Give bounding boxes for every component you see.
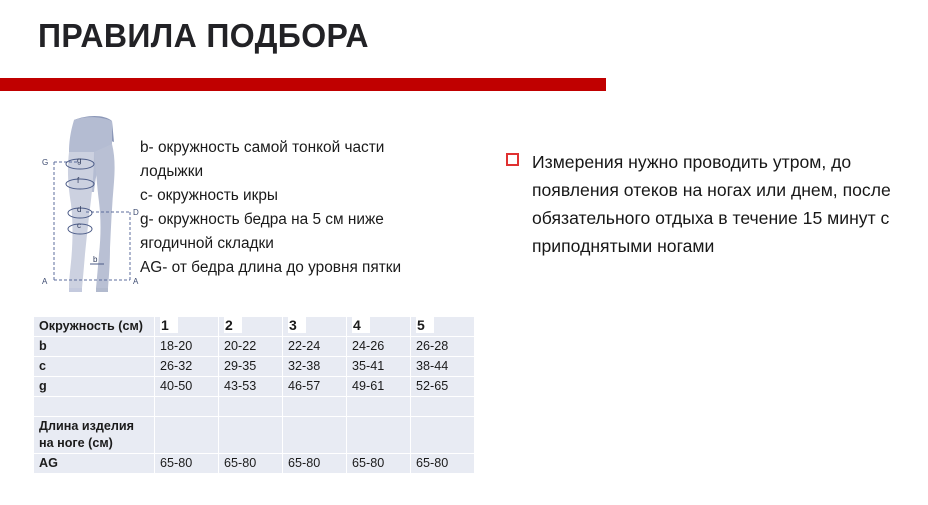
- label-A-right: A: [133, 277, 139, 286]
- cell-b-5: 26-28: [411, 337, 475, 357]
- cell-c-5: 38-44: [411, 357, 475, 377]
- table-header-size-3: 3: [283, 317, 347, 337]
- table-header-label: Окружность (см): [34, 317, 155, 337]
- row-label-b: b: [34, 337, 155, 357]
- page-title: ПРАВИЛА ПОДБОРА: [38, 16, 369, 56]
- cell-ag-2: 65-80: [219, 454, 283, 474]
- leg-diagram-svg: G D A A g f d c b: [38, 112, 146, 294]
- table-header-size-2: 2: [219, 317, 283, 337]
- label-D: D: [133, 208, 139, 217]
- cell-c-4: 35-41: [347, 357, 411, 377]
- cell-b-1: 18-20: [155, 337, 219, 357]
- label-g: g: [77, 156, 81, 165]
- cell-b-3: 22-24: [283, 337, 347, 357]
- cell-c-3: 32-38: [283, 357, 347, 377]
- measurement-legend: b- окружность самой тонкой части лодыжки…: [140, 136, 440, 280]
- table-header-size-4: 4: [347, 317, 411, 337]
- front-leg-shape: [68, 152, 94, 288]
- section-cell-3: [283, 417, 347, 454]
- table-header-size-5: 5: [411, 317, 475, 337]
- spacer-cell-3: [283, 397, 347, 417]
- label-b: b: [93, 255, 98, 264]
- row-label-g: g: [34, 377, 155, 397]
- cell-g-5: 52-65: [411, 377, 475, 397]
- spacer-cell-label: [34, 397, 155, 417]
- cell-ag-4: 65-80: [347, 454, 411, 474]
- back-foot-shape: [96, 288, 108, 292]
- cell-g-2: 43-53: [219, 377, 283, 397]
- label-A-left: A: [42, 277, 48, 286]
- section-cell-1: [155, 417, 219, 454]
- leg-measurement-diagram: G D A A g f d c b: [38, 112, 146, 294]
- spacer-cell-4: [347, 397, 411, 417]
- cell-ag-3: 65-80: [283, 454, 347, 474]
- list-item-label: Измерения нужно проводить утром, до появ…: [532, 152, 891, 256]
- measurement-advice-block: Измерения нужно проводить утром, до появ…: [506, 148, 906, 260]
- table-spacer-row: [34, 397, 475, 417]
- cell-b-2: 20-22: [219, 337, 283, 357]
- label-G: G: [42, 158, 48, 167]
- row-label-c: c: [34, 357, 155, 377]
- spacer-cell-2: [219, 397, 283, 417]
- table-header-row: Окружность (см) 1 2 3 4 5: [34, 317, 475, 337]
- back-leg-shape: [94, 144, 115, 288]
- cell-ag-5: 65-80: [411, 454, 475, 474]
- title-accent-rule: [0, 78, 606, 91]
- table-row: g 40-50 43-53 46-57 49-61 52-65: [34, 377, 475, 397]
- section-cell-2: [219, 417, 283, 454]
- table-header-size-1: 1: [155, 317, 219, 337]
- front-foot-shape: [69, 288, 82, 292]
- cell-c-1: 26-32: [155, 357, 219, 377]
- red-square-bullet-icon: [506, 153, 519, 166]
- size-chart-table: Окружность (см) 1 2 3 4 5 b 18-20 20-22 …: [33, 316, 475, 474]
- table-row: c 26-32 29-35 32-38 35-41 38-44: [34, 357, 475, 377]
- section-cell-5: [411, 417, 475, 454]
- cell-c-2: 29-35: [219, 357, 283, 377]
- row-label-ag: AG: [34, 454, 155, 474]
- table-row: AG 65-80 65-80 65-80 65-80 65-80: [34, 454, 475, 474]
- row-label-product-length: Длина изделия на ноге (см): [34, 417, 155, 454]
- label-d: d: [77, 205, 81, 214]
- list-item: Измерения нужно проводить утром, до появ…: [506, 148, 906, 260]
- section-cell-4: [347, 417, 411, 454]
- table-section-row: Длина изделия на ноге (см): [34, 417, 475, 454]
- cell-ag-1: 65-80: [155, 454, 219, 474]
- cell-g-1: 40-50: [155, 377, 219, 397]
- table-row: b 18-20 20-22 22-24 24-26 26-28: [34, 337, 475, 357]
- label-c: c: [77, 221, 81, 230]
- cell-g-3: 46-57: [283, 377, 347, 397]
- spacer-cell-5: [411, 397, 475, 417]
- cell-g-4: 49-61: [347, 377, 411, 397]
- cell-b-4: 24-26: [347, 337, 411, 357]
- spacer-cell-1: [155, 397, 219, 417]
